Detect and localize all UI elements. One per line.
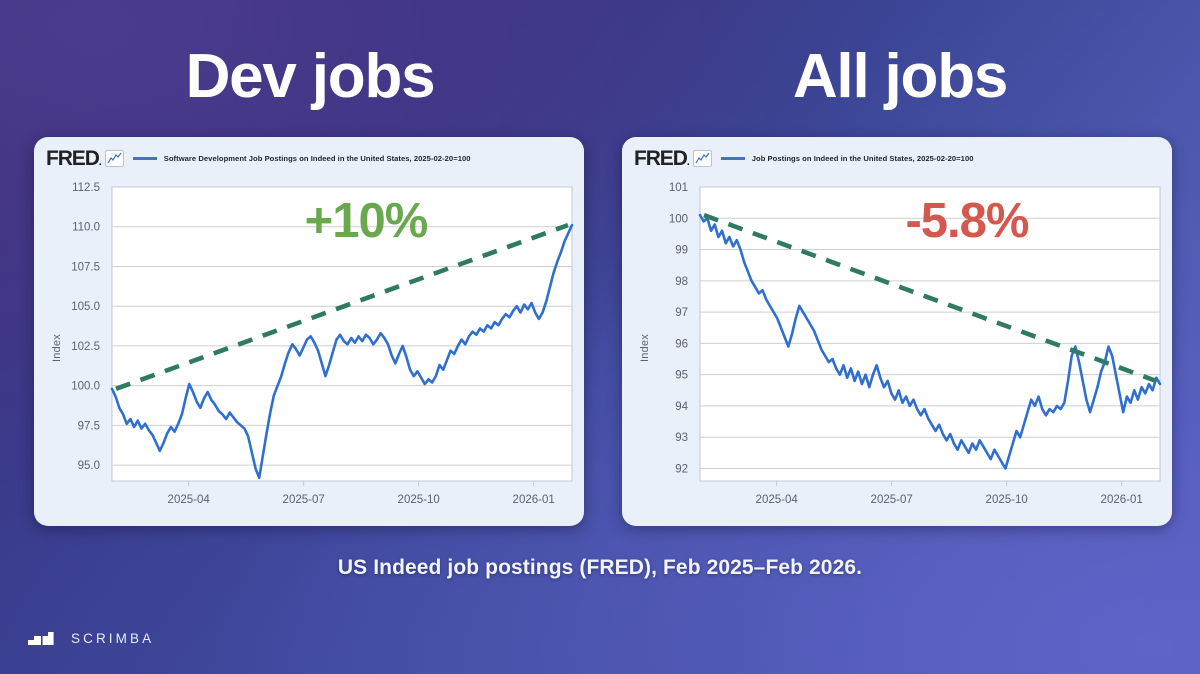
svg-text:100.0: 100.0 — [71, 381, 100, 393]
svg-text:2026-01: 2026-01 — [513, 494, 555, 506]
legend-label-dev: Software Development Job Postings on Ind… — [164, 154, 471, 163]
svg-text:93: 93 — [675, 432, 688, 444]
svg-text:97.5: 97.5 — [78, 420, 100, 432]
svg-text:2025-07: 2025-07 — [871, 494, 913, 506]
svg-text:99: 99 — [675, 245, 688, 257]
svg-text:102.5: 102.5 — [71, 341, 100, 353]
svg-text:101: 101 — [669, 182, 688, 194]
chart-card-all-jobs: FRED. Job Postings on Indeed in the Unit… — [622, 137, 1172, 526]
scrimba-logo: SCRIMBA — [28, 631, 154, 646]
line-chart-icon — [693, 150, 712, 167]
fred-logo: FRED. — [46, 148, 101, 169]
legend-color-swatch-dev — [133, 157, 157, 160]
svg-text:94: 94 — [675, 401, 688, 413]
svg-text:112.5: 112.5 — [72, 182, 100, 194]
legend-label-all: Job Postings on Indeed in the United Sta… — [752, 154, 974, 163]
plot-area-dev-jobs: Index 95.097.5100.0102.5105.0107.5110.01… — [34, 169, 584, 526]
svg-text:105.0: 105.0 — [71, 301, 100, 313]
caption: US Indeed job postings (FRED), Feb 2025–… — [0, 556, 1200, 580]
svg-text:2025-10: 2025-10 — [986, 494, 1028, 506]
svg-text:92: 92 — [675, 463, 688, 475]
svg-text:95.0: 95.0 — [78, 460, 100, 472]
scrimba-blocks-icon — [28, 632, 62, 645]
scrimba-wordmark: SCRIMBA — [71, 631, 154, 646]
chart-header-dev-jobs: FRED. Software Development Job Postings … — [46, 146, 574, 170]
svg-text:100: 100 — [669, 213, 688, 225]
heading-all-jobs: All jobs — [620, 41, 1180, 112]
svg-text:110.0: 110.0 — [72, 222, 100, 234]
svg-text:2026-01: 2026-01 — [1101, 494, 1143, 506]
legend-color-swatch-all — [721, 157, 745, 160]
chart-svg-all-jobs: 92939495969798991001012025-042025-072025… — [622, 169, 1172, 526]
svg-text:97: 97 — [675, 307, 688, 319]
svg-text:95: 95 — [675, 370, 688, 382]
plot-area-all-jobs: Index 92939495969798991001012025-042025-… — [622, 169, 1172, 526]
svg-text:+10%: +10% — [305, 194, 428, 248]
slide: Dev jobs All jobs FRED. Software Develop… — [0, 0, 1200, 674]
svg-text:-5.8%: -5.8% — [905, 194, 1028, 248]
chart-header-all-jobs: FRED. Job Postings on Indeed in the Unit… — [634, 146, 1162, 170]
svg-text:98: 98 — [675, 276, 688, 288]
svg-text:96: 96 — [675, 338, 688, 350]
svg-text:107.5: 107.5 — [71, 261, 100, 273]
svg-text:2025-04: 2025-04 — [756, 494, 799, 506]
chart-card-dev-jobs: FRED. Software Development Job Postings … — [34, 137, 584, 526]
line-chart-icon — [105, 150, 124, 167]
svg-text:2025-04: 2025-04 — [168, 494, 211, 506]
chart-svg-dev-jobs: 95.097.5100.0102.5105.0107.5110.0112.520… — [34, 169, 584, 526]
svg-text:2025-07: 2025-07 — [283, 494, 325, 506]
fred-logo: FRED. — [634, 148, 689, 169]
svg-text:2025-10: 2025-10 — [398, 494, 440, 506]
heading-dev-jobs: Dev jobs — [30, 41, 590, 112]
